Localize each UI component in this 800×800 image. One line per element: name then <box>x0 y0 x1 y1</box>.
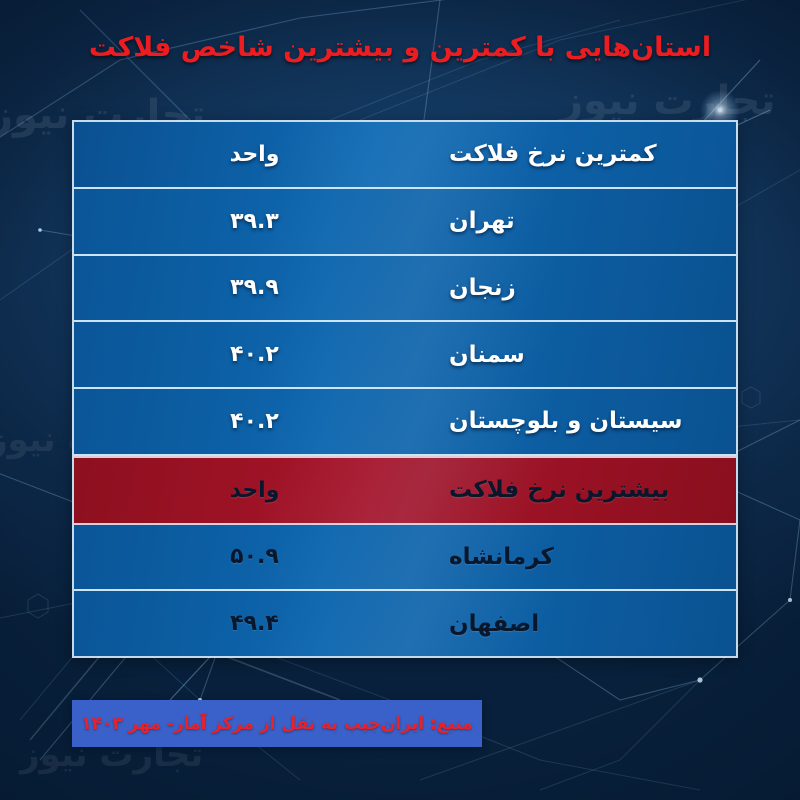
province-name: اصفهان <box>405 611 736 637</box>
table-section-header-highest: بیشترین نرخ فلاکت واحد <box>74 456 736 525</box>
source-box: منبع: ایران‌جیب به نقل از مرکز آمار- مهر… <box>72 700 482 747</box>
watermark: تجارت نیوز <box>560 78 775 124</box>
table-row: اصفهان ۴۹.۴ <box>74 591 736 656</box>
misery-index-value: ۴۹.۴ <box>74 611 405 636</box>
misery-index-table: کمترین نرخ فلاکت واحد تهران ۳۹.۳ زنجان ۳… <box>72 120 738 658</box>
source-text: منبع: ایران‌جیب به نقل از مرکز آمار- مهر… <box>81 714 473 734</box>
province-name: سیستان و بلوچستان <box>405 408 736 434</box>
misery-index-value: ۵۰.۹ <box>74 544 405 569</box>
table-section-header-lowest: کمترین نرخ فلاکت واحد <box>74 122 736 189</box>
province-name: کرمانشاه <box>405 544 736 570</box>
table-row: تهران ۳۹.۳ <box>74 189 736 256</box>
table-row: سیستان و بلوچستان ۴۰.۲ <box>74 389 736 456</box>
table-row: کرمانشاه ۵۰.۹ <box>74 525 736 592</box>
misery-index-value: ۴۰.۲ <box>74 342 405 367</box>
section-header-label: کمترین نرخ فلاکت <box>405 141 736 167</box>
section-header-unit: واحد <box>74 142 405 167</box>
page-title: استان‌هایی با کمترین و بیشترین شاخص فلاک… <box>0 30 800 66</box>
province-name: سمنان <box>405 342 736 368</box>
table-row: سمنان ۴۰.۲ <box>74 322 736 389</box>
misery-index-value: ۴۰.۲ <box>74 409 405 434</box>
table-row: زنجان ۳۹.۹ <box>74 256 736 323</box>
province-name: زنجان <box>405 275 736 301</box>
section-header-unit: واحد <box>74 478 405 503</box>
province-name: تهران <box>405 208 736 234</box>
misery-index-value: ۳۹.۳ <box>74 209 405 234</box>
misery-index-value: ۳۹.۹ <box>74 275 405 300</box>
section-header-label: بیشترین نرخ فلاکت <box>405 477 736 503</box>
